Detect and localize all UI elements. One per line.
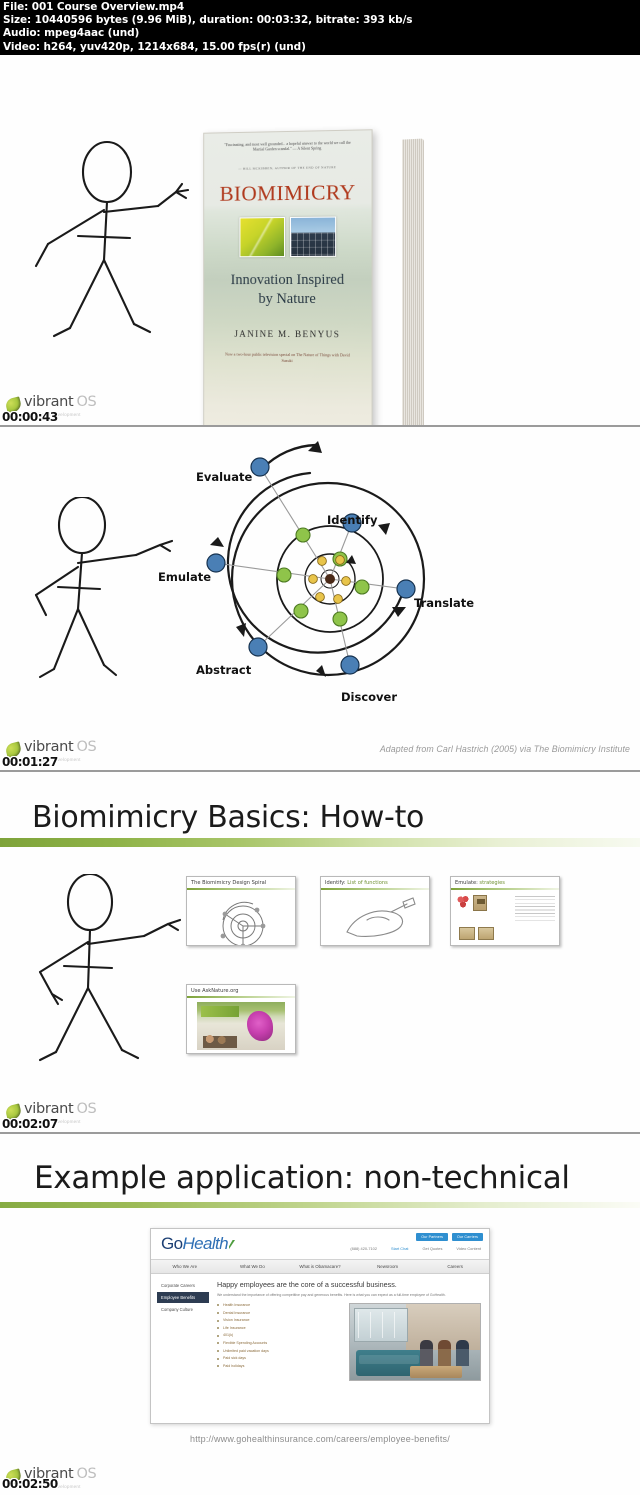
magenta-flower (247, 1011, 273, 1041)
our-carriers-button[interactable]: Our Carriers (452, 1233, 483, 1241)
nav-item-who-we-are[interactable]: Who We Are (151, 1264, 219, 1269)
slide-thumbnail-1[interactable]: The Biomimicry Design Spiral (186, 876, 296, 946)
hand-sketch-icon (341, 896, 421, 946)
slide-title: Biomimicry Basics: How-to (32, 800, 424, 835)
people-silhouettes (203, 1028, 237, 1048)
media-info-size-line: Size: 10440596 bytes (9.96 MiB), duratio… (3, 14, 637, 27)
list-item: Health Insurance (217, 1303, 343, 1307)
slide-thumbnail-title: Emulate: strategies (451, 877, 559, 888)
watermark-suffix: OS (76, 1466, 96, 1482)
book-illustration: "Fascinating, and most well grounded... … (196, 123, 424, 427)
book-footer-note: Now a two-hour public television special… (204, 352, 371, 365)
box-icon (473, 895, 487, 911)
video-frame-1[interactable]: "Fascinating, and most well grounded... … (0, 55, 640, 427)
book-blurb: "Fascinating, and most well grounded... … (204, 130, 371, 154)
sidebar-item-employee-benefits[interactable]: Employee Benefits (157, 1292, 209, 1303)
frame-timestamp: 00:00:43 (2, 410, 58, 424)
block-icon-2 (478, 927, 494, 940)
spiral-label-abstract: Abstract (196, 663, 251, 677)
media-info-header: File: 001 Course Overview.mp4 Size: 1044… (0, 0, 640, 55)
watermark-suffix: OS (76, 1101, 96, 1117)
node-discover (341, 656, 359, 674)
slide-thumbnail-title-text: Identify: (325, 880, 346, 886)
list-item: Flexible Spending Accounts (217, 1341, 343, 1345)
node-translate (397, 580, 415, 598)
watermark-suffix: OS (76, 394, 96, 410)
slide-title: Example application: non-technical (34, 1160, 570, 1196)
book-subtitle-line-2: by Nature (204, 290, 371, 309)
nav-item-what-is-obamacare[interactable]: What is Obamacare? (286, 1264, 354, 1269)
our-partners-button[interactable]: Our Partners (416, 1233, 448, 1241)
sidebar-item-corporate-careers[interactable]: Corporate Careers (157, 1280, 209, 1291)
page-url: http://www.gohealthinsurance.com/careers… (0, 1434, 640, 1444)
site-body: Corporate Careers Employee Benefits Comp… (151, 1274, 489, 1422)
list-item: Life Insurance (217, 1326, 343, 1330)
sidebar-item-company-culture[interactable]: Company Culture (157, 1304, 209, 1315)
slide-thumbnail-title: Use AskNature.org (187, 985, 295, 996)
asknature-screenshot (197, 1002, 285, 1050)
table-graphic (410, 1366, 462, 1378)
slide-thumbnail-4[interactable]: Use AskNature.org (186, 984, 296, 1054)
gohealth-logo[interactable]: GoHealth (161, 1234, 235, 1254)
person-silhouette-1 (420, 1340, 433, 1366)
start-chat-link[interactable]: Start Chat (391, 1246, 409, 1251)
spiral-label-identify: Identify (327, 513, 377, 527)
slide-thumbnail-3[interactable]: Emulate: strategies (450, 876, 560, 946)
red-cluster-icon (457, 896, 469, 910)
nav-item-what-we-do[interactable]: What We Do (219, 1264, 287, 1269)
video-frame-2[interactable]: Evaluate Identify Emulate Translate Abst… (0, 427, 640, 772)
site-columns: Health Insurance Dental Insurance Vision… (217, 1303, 481, 1381)
slide-thumbnail-body (187, 890, 295, 946)
nav-item-careers[interactable]: Careers (421, 1264, 489, 1269)
text-lines-placeholder (515, 896, 555, 922)
office-photo (349, 1303, 481, 1381)
site-headline: Happy employees are the core of a succes… (217, 1280, 481, 1289)
slide-thumbnail-body (187, 998, 295, 1054)
person-silhouette-3 (456, 1340, 469, 1366)
book-title: BIOMIMICRY (204, 180, 371, 207)
list-item: Dental Insurance (217, 1311, 343, 1315)
node-evaluate (251, 458, 269, 476)
slide-thumbnail-title-accent: List of functions (347, 880, 388, 886)
slide-thumbnail-body (321, 890, 429, 946)
slide-thumbnail-title: Identify: List of functions (321, 877, 429, 888)
logo-health: Health (182, 1234, 228, 1253)
list-item: Vision Insurance (217, 1318, 343, 1322)
site-nav-bar: Who We Are What We Do What is Obamacare?… (151, 1259, 489, 1274)
watermark-brand: vibrant (24, 1101, 73, 1117)
book-author: JANINE M. BENYUS (204, 329, 371, 340)
slide-thumbnail-title-accent: strategies (479, 880, 504, 886)
checkmark-icon (229, 1240, 235, 1249)
site-sidebar: Corporate Careers Employee Benefits Comp… (151, 1274, 213, 1422)
list-item: Unlimited paid vacation days (217, 1349, 343, 1353)
spiral-label-evaluate: Evaluate (196, 470, 252, 484)
video-content-link[interactable]: Video Content (456, 1246, 481, 1251)
list-item: 401(k) (217, 1333, 343, 1337)
frame-timestamp: 00:01:27 (2, 755, 58, 769)
spiral-attribution: Adapted from Carl Hastrich (2005) via Th… (380, 744, 630, 754)
person-silhouette-2 (438, 1340, 451, 1366)
nav-item-newsroom[interactable]: Newsroom (354, 1264, 422, 1269)
book-cover: "Fascinating, and most well grounded... … (203, 129, 372, 427)
slide-thumbnail-title-text: Emulate: (455, 880, 478, 886)
slide-accent-rule (0, 838, 640, 847)
media-info-file-line: File: 001 Course Overview.mp4 (3, 1, 637, 14)
thumbnail-sheet: File: 001 Course Overview.mp4 Size: 1044… (0, 0, 640, 1495)
site-main-content: Happy employees are the core of a succes… (213, 1274, 489, 1422)
site-header: GoHealth Our Partners Our Carriers (888)… (151, 1229, 489, 1259)
green-banner (201, 1006, 239, 1017)
video-frame-4[interactable]: Example application: non-technical GoHea… (0, 1134, 640, 1495)
leaf-image (239, 217, 285, 257)
phone-number[interactable]: (888) 420-7102 (350, 1246, 377, 1251)
slide-thumbnail-title: The Biomimicry Design Spiral (187, 877, 295, 888)
window-graphic (354, 1308, 408, 1342)
gohealth-website-screenshot[interactable]: GoHealth Our Partners Our Carriers (888)… (150, 1228, 490, 1424)
slide-accent-rule (0, 1202, 640, 1208)
benefits-list: Health Insurance Dental Insurance Vision… (217, 1303, 343, 1381)
spiral-sketch-icon (211, 898, 275, 946)
list-item: Paid sick days (217, 1356, 343, 1360)
solar-panel-image (289, 217, 335, 257)
watermark-brand: vibrant (24, 739, 73, 755)
video-frame-3[interactable]: Biomimicry Basics: How-to The Biomimicry… (0, 772, 640, 1134)
site-top-links: (888) 420-7102 Start Chat Get Quotes Vid… (350, 1246, 481, 1251)
slide-thumbnail-2[interactable]: Identify: List of functions (320, 876, 430, 946)
frame-timestamp: 00:02:50 (2, 1477, 58, 1491)
site-paragraph: We understand the importance of offering… (217, 1293, 481, 1298)
book-page-edges (402, 138, 424, 427)
frame-timestamp: 00:02:07 (2, 1117, 58, 1131)
watermark-brand: vibrant (24, 394, 73, 410)
stick-figure-presenter (18, 140, 198, 340)
site-header-buttons: Our Partners Our Carriers (416, 1233, 483, 1241)
logo-go: Go (161, 1234, 182, 1253)
stick-figure-presenter (18, 874, 188, 1064)
book-cover-images (204, 216, 371, 257)
media-info-video-line: Video: h264, yuv420p, 1214x684, 15.00 fp… (3, 41, 637, 54)
block-icon-1 (459, 927, 475, 940)
book-blurb-attribution: — BILL MCKIBBEN, AUTHOR OF THE END OF NA… (204, 154, 371, 172)
book-subtitle-line-1: Innovation Inspired (204, 271, 371, 290)
media-info-audio-line: Audio: mpeg4aac (und) (3, 27, 637, 40)
spiral-label-translate: Translate (414, 596, 474, 610)
slide-thumbnail-body (451, 890, 559, 946)
list-item: Paid holidays (217, 1364, 343, 1368)
spiral-label-discover: Discover (341, 690, 397, 704)
spiral-label-emulate: Emulate (158, 570, 211, 584)
get-quotes-link[interactable]: Get Quotes (423, 1246, 443, 1251)
node-abstract (249, 638, 267, 656)
watermark-suffix: OS (76, 739, 96, 755)
